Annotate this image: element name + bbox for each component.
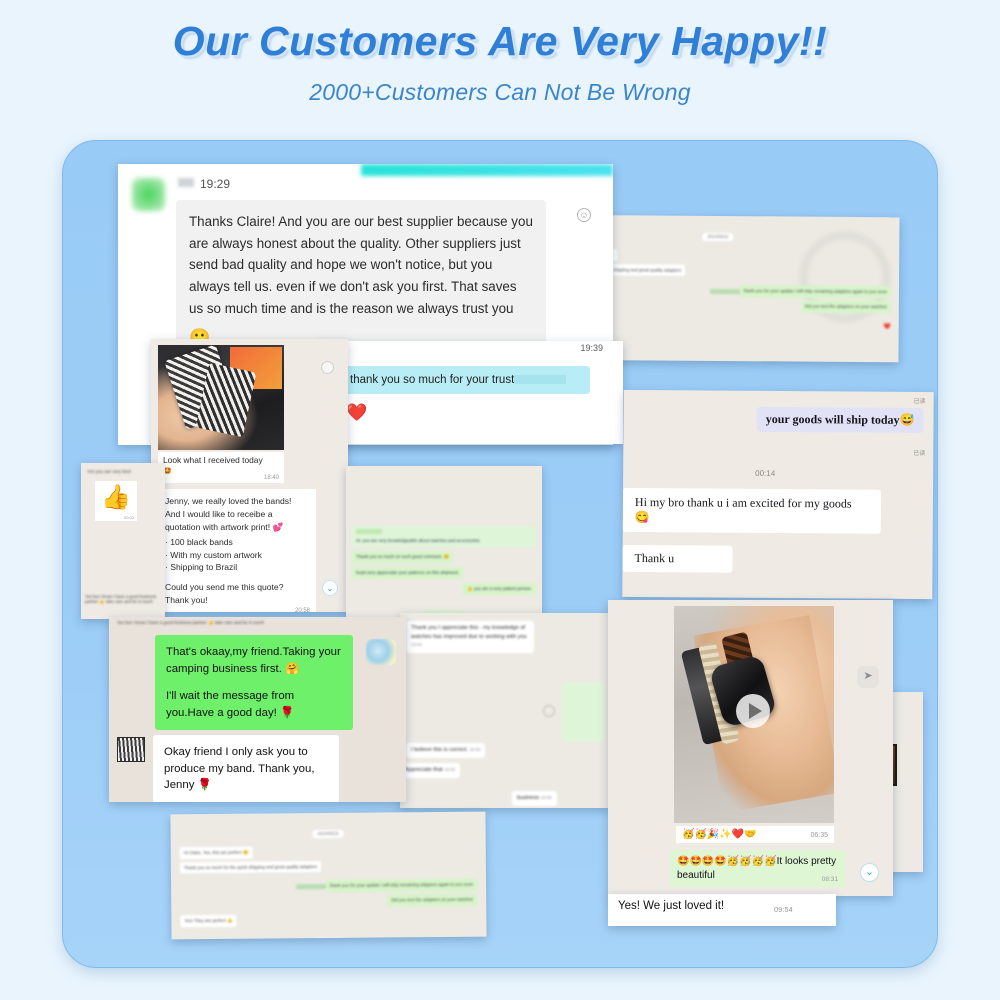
- message-time: 18:40: [264, 475, 279, 481]
- green-line-1: That's okaay,my friend.Taking your campi…: [166, 644, 342, 677]
- chat-text: Thank you I appreciate this - my knowled…: [411, 625, 527, 640]
- chat-bubble: Thank you I appreciate this - my knowled…: [406, 621, 534, 653]
- ship-today-card[interactable]: 已读 your goods will ship today😅 已读 00:14 …: [622, 390, 933, 599]
- chat-bubble: I believe this is correct. 18:55: [406, 743, 485, 758]
- chat-bubble: 👍 you are a very patient person.: [463, 583, 536, 595]
- thumbs-up-sticker: 👍 20:03: [95, 481, 137, 521]
- forward-icon[interactable]: ➤: [857, 666, 879, 688]
- trust-text: thank you so much for your trust: [350, 374, 514, 386]
- green-line-2: I'll wait the message from you.Have a go…: [166, 688, 342, 721]
- reply-bubble: Thank u: [622, 545, 732, 573]
- message-time: 18:54: [411, 642, 422, 647]
- play-icon[interactable]: [736, 694, 770, 728]
- chat-text: I believe this is correct.: [411, 747, 468, 753]
- believe-correct-card[interactable]: Thank you I appreciate this - my knowled…: [400, 613, 611, 808]
- message-time: 08:31: [822, 876, 838, 885]
- emoji-reaction-bubble: 06:35 🥳🥳🎉✨❤️🤝: [676, 826, 834, 843]
- avatar: [132, 178, 165, 211]
- chat-bubble: thank you for your update i will ship re…: [326, 879, 477, 892]
- bullet-item: 100 black bands: [165, 536, 309, 549]
- request-line: quotation with artwork print! 💕: [165, 521, 309, 534]
- date-stamp: 2024/05/22: [702, 232, 733, 240]
- photo-caption: Look what I received today 🤩 18:40: [158, 452, 284, 483]
- ship-today-bubble: your goods will ship today😅: [757, 407, 924, 433]
- read-receipt: 已读: [914, 396, 926, 405]
- loved-it-text: Yes! We just loved it!: [618, 900, 724, 912]
- chat-bubble: Did you test the adapters on your watche…: [801, 301, 891, 313]
- reply-bubble: Hi my bro thank u i am excited for my go…: [623, 488, 881, 534]
- chat-bubble: Yes! They are perfect 👍: [180, 915, 236, 927]
- trust-bubble: thank you so much for your trust: [340, 366, 590, 394]
- message-time: 06:35: [810, 829, 828, 839]
- heart-icon: ❤️: [883, 324, 891, 330]
- bullet-item: Shipping to Brazil: [165, 561, 309, 574]
- photo-caption-text: Look what I received today: [163, 455, 263, 465]
- date-stamp: 2024/05/22: [313, 829, 344, 837]
- page-header: Our Customers Are Very Happy!! 2000+Cust…: [0, 0, 1000, 106]
- chat-bubble: Did you test the adapters on your watche…: [387, 894, 477, 906]
- bullet-item: With my custom artwork: [165, 549, 309, 562]
- chat-bubble: Hi Claire, Yes, this are perfect 😊: [180, 847, 253, 859]
- faint-partner-text: Yes but I know I have a good business pa…: [117, 620, 387, 626]
- loading-icon: [543, 705, 555, 717]
- page-subtitle: 2000+Customers Can Not Be Wrong: [0, 79, 1000, 106]
- bands-request-card[interactable]: Look what I received today 🤩 18:40 Jenny…: [151, 339, 348, 612]
- message-time: 20:03: [124, 515, 134, 520]
- video-watch-card[interactable]: ➤ 06:35 🥳🥳🎉✨❤️🤝 🤩🤩🤩🤩🥳🥳🥳🥳It looks pretty …: [608, 600, 893, 896]
- message-time: 19:39: [580, 343, 603, 353]
- business-partner-text: Yes but I know I have a good business pa…: [85, 594, 161, 605]
- loading-icon: [321, 361, 334, 374]
- quotation-request-bubble: Jenny, we really loved the bands! And I …: [158, 489, 316, 612]
- request-line: And I would like to receibe a: [165, 508, 309, 521]
- chat-bubble: business 18:58: [512, 791, 557, 806]
- chat-bubble: Appreciate that 18:55: [400, 763, 460, 778]
- beautiful-green-bubble: 🤩🤩🤩🤩🥳🥳🥳🥳It looks pretty beautiful 08:31: [670, 850, 846, 887]
- read-receipt: 已读: [913, 448, 925, 457]
- heart-icon: ❤️: [346, 403, 367, 423]
- bottom-left-chat-card[interactable]: 2024/05/22 Hi Claire, Yes, this are perf…: [170, 812, 486, 940]
- kind-message-text: Yes you are very kind: [87, 469, 131, 474]
- chevron-down-icon[interactable]: ⌄: [322, 580, 338, 596]
- chat-bubble: Thank you so much for the quick shipping…: [180, 861, 321, 874]
- closing-line: Thank you!: [165, 594, 309, 607]
- testimonial-text: Thanks Claire! And you are our best supp…: [189, 214, 533, 316]
- message-time: 18:55: [444, 767, 455, 772]
- decorative-strip: [361, 164, 613, 176]
- received-bands-photo[interactable]: [158, 345, 284, 450]
- sender-name-redacted: [178, 178, 194, 187]
- chevron-down-icon[interactable]: ⌄: [860, 863, 879, 882]
- emoji-row: 🥳🥳🎉✨❤️🤝: [682, 829, 757, 840]
- message-time: 18:55: [469, 747, 480, 752]
- smiley-icon[interactable]: ☺: [577, 208, 591, 222]
- camping-whatsapp-card[interactable]: Yes but I know I have a good business pa…: [109, 617, 406, 802]
- chat-bubble: heart,very appreciate your patience on t…: [352, 567, 463, 579]
- request-bullets: 100 black bands With my custom artwork S…: [165, 536, 309, 575]
- message-time: 09:54: [774, 905, 793, 914]
- thumbs-up-card[interactable]: Yes you are very kind 👍 20:03 Yes but I …: [81, 463, 165, 619]
- camping-reply-bubble: Okay friend I only ask you to produce my…: [153, 735, 339, 802]
- request-line: Jenny, we really loved the bands!: [165, 495, 309, 508]
- message-time: 20:58: [295, 607, 310, 612]
- testimonial-collage-panel: 2024/05/22 Hi Claire, Yes, this are perf…: [62, 140, 938, 968]
- closing-line: Could you send me this quote?: [165, 581, 309, 594]
- chat-bubble: thank you for your update i will ship re…: [740, 286, 891, 299]
- thumbs-up-icon: 👍: [95, 481, 137, 515]
- voice-message: [561, 683, 605, 741]
- chat-text: business: [517, 795, 539, 801]
- chat-bubble: Hi, you are very knowledgeable about wat…: [356, 538, 480, 543]
- avatar: [117, 737, 145, 762]
- page-title: Our Customers Are Very Happy!!: [0, 18, 1000, 65]
- sticker: [366, 639, 396, 665]
- watch-knowledge-card[interactable]: Hi, you are very knowledgeable about wat…: [346, 466, 542, 618]
- trust-card[interactable]: 19:39 thank you so much for your trust ❤…: [318, 341, 623, 444]
- loved-it-card[interactable]: Yes! We just loved it! 09:54: [608, 894, 836, 926]
- green-bubble-text: 🤩🤩🤩🤩🥳🥳🥳🥳It looks pretty beautiful: [677, 856, 836, 881]
- message-time: 18:58: [541, 795, 552, 800]
- watch-video-thumbnail[interactable]: [674, 606, 834, 823]
- camping-green-bubble: That's okaay,my friend.Taking your campi…: [155, 635, 353, 730]
- message-time: 00:14: [755, 469, 775, 478]
- date-stamp: 2024/06/03: [314, 938, 345, 939]
- message-time: 19:29: [200, 177, 230, 191]
- chat-text: Appreciate that: [405, 767, 443, 773]
- chat-bubble: Thank you so much on such good comment. …: [352, 551, 453, 563]
